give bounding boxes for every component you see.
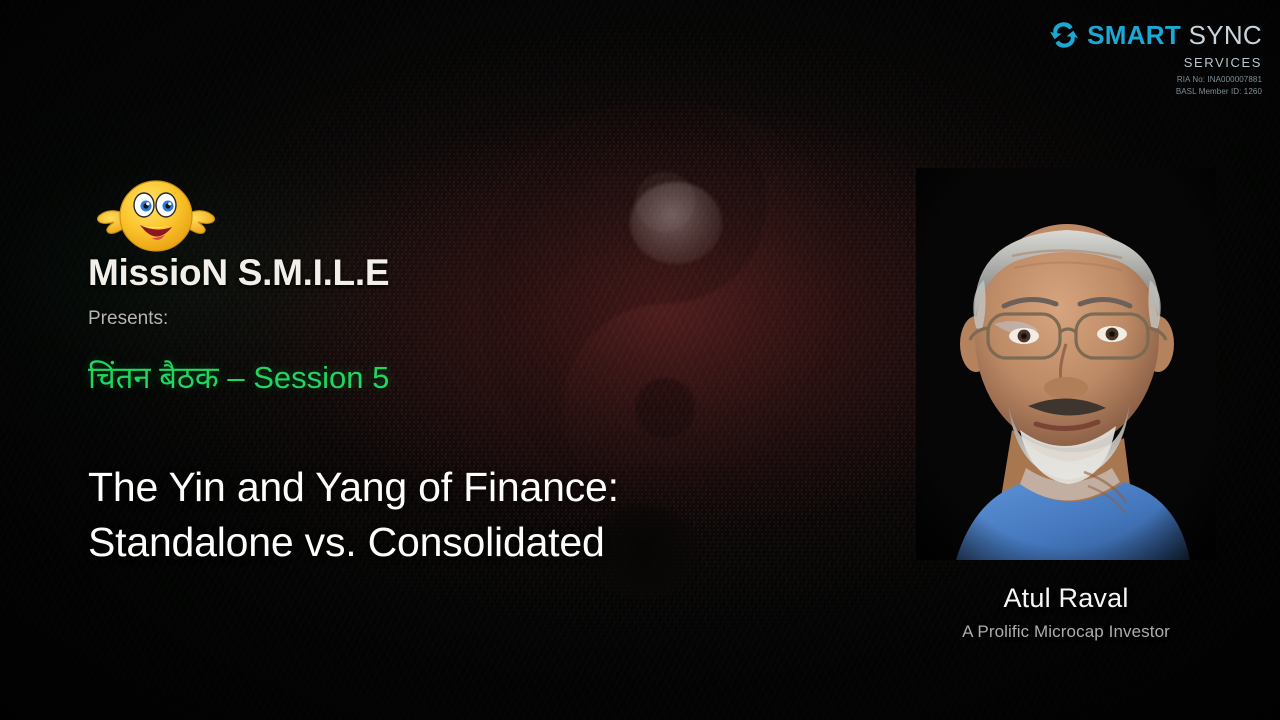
brand-word-smart: SMART: [1087, 20, 1181, 50]
speaker-name: Atul Raval: [916, 583, 1216, 614]
brand-logo-row: SMART SYNC: [1047, 18, 1262, 52]
title-line-2: Standalone vs. Consolidated: [88, 515, 619, 570]
yin-yang-light-dot: [630, 182, 722, 264]
brand-registration-info: RIA No: INA000007881 BASL Member ID: 126…: [1047, 74, 1262, 97]
ria-number: RIA No: INA000007881: [1047, 74, 1262, 86]
presents-label: Presents:: [88, 308, 168, 330]
session-subtitle: चिंतन बैठक – Session 5: [88, 356, 389, 398]
basl-member-id: BASL Member ID: 1260: [1047, 86, 1262, 98]
slide-canvas: SMART SYNC SERVICES RIA No: INA000007881…: [0, 0, 1280, 720]
brand-logo-block: SMART SYNC SERVICES RIA No: INA000007881…: [1047, 18, 1262, 97]
mission-title: MissioN S.M.I.L.E: [88, 252, 389, 294]
brand-wordmark: SMART SYNC: [1087, 22, 1262, 48]
speaker-role: A Prolific Microcap Investor: [896, 622, 1236, 642]
title-line-1: The Yin and Yang of Finance:: [88, 460, 619, 515]
page-title: The Yin and Yang of Finance: Standalone …: [88, 460, 619, 571]
smiley-pointing-hands-icon: [90, 176, 222, 260]
speaker-portrait-photo: [916, 168, 1216, 560]
brand-services-label: SERVICES: [1047, 56, 1262, 69]
brand-word-sync: SYNC: [1189, 20, 1262, 50]
sync-s-icon: [1047, 18, 1081, 52]
